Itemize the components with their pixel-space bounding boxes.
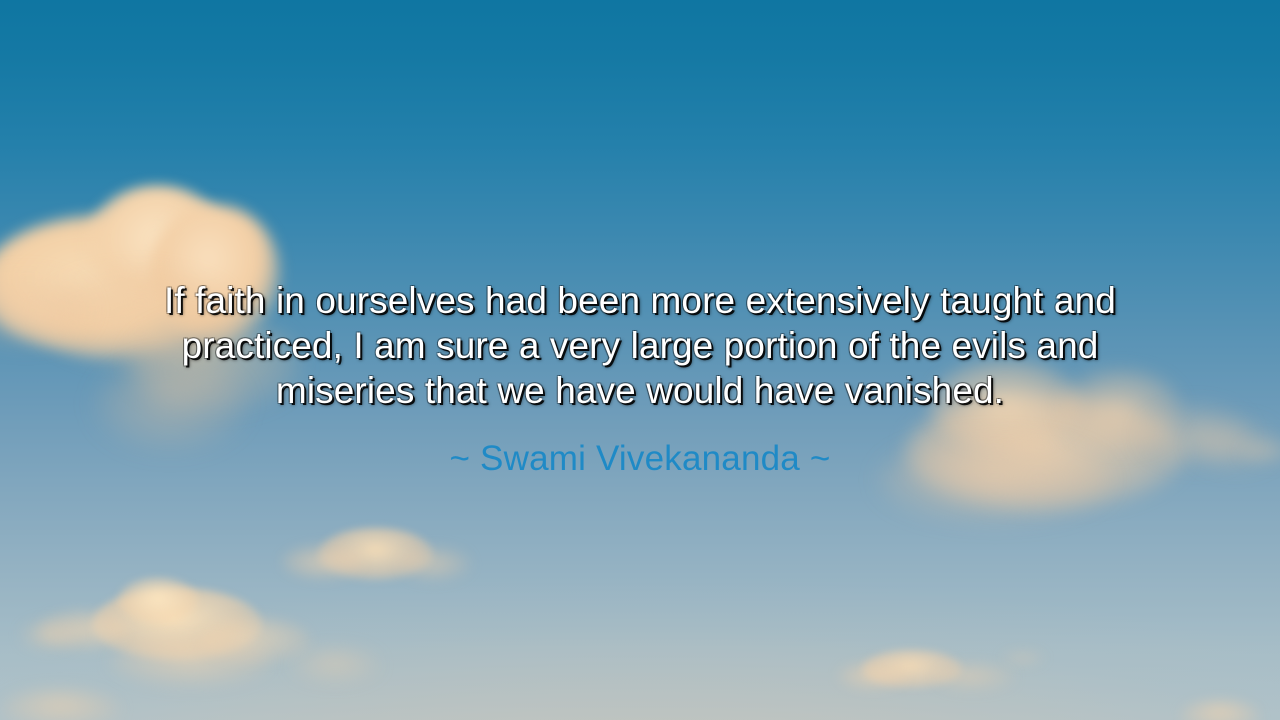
cloud-center-bottom xyxy=(400,548,470,580)
cloud-lower-right xyxy=(1000,650,1046,666)
cloud-lower-left xyxy=(0,690,120,720)
quote-block: If faith in ourselves had been more exte… xyxy=(0,278,1280,481)
cloud-lower-right xyxy=(935,664,1015,690)
cloud-lower-right xyxy=(1180,700,1260,720)
cloud-lower-left xyxy=(110,638,270,686)
quote-text: If faith in ourselves had been more exte… xyxy=(40,278,1240,413)
cloud-lower-right xyxy=(838,662,908,690)
cloud-center-bottom xyxy=(282,545,362,579)
quote-card: If faith in ourselves had been more exte… xyxy=(0,0,1280,720)
cloud-lower-left xyxy=(118,578,198,623)
quote-attribution: ~ Swami Vivekananda ~ xyxy=(40,437,1240,481)
cloud-lower-left xyxy=(290,648,380,682)
cloud-lower-left xyxy=(20,620,80,650)
